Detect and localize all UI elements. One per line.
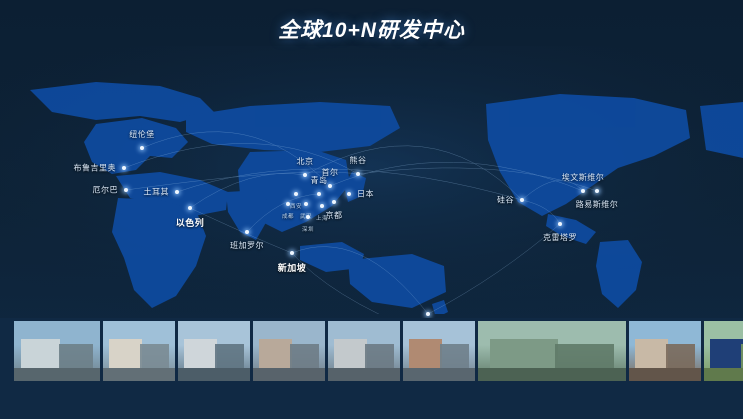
photo-strip: 意大利 · 布鲁吉里奥德国 · 纽伦堡欧洲 · 土耳其韩国 · 首尔日本 · 熊… bbox=[0, 318, 743, 419]
city-label: 首尔 bbox=[322, 167, 339, 178]
city-label: 西安 bbox=[290, 202, 302, 210]
facility-thumbnail[interactable] bbox=[403, 321, 475, 381]
thumbnail-ground-shape bbox=[478, 368, 626, 381]
city-label: 北京 bbox=[297, 156, 314, 167]
thumbnail-building-shape bbox=[635, 339, 668, 368]
city-label: 日本 bbox=[357, 189, 374, 200]
thumbnail-building-shape bbox=[140, 344, 169, 368]
city-label: 路易斯维尔 bbox=[576, 199, 619, 210]
thumbnail-ground-shape bbox=[704, 368, 743, 381]
location-pin-icon bbox=[306, 215, 310, 219]
thumbnail-ground-shape bbox=[629, 368, 701, 381]
city-label: 硅谷 bbox=[497, 195, 514, 206]
location-pin-icon bbox=[581, 189, 585, 193]
location-pin-icon bbox=[320, 204, 324, 208]
facility-thumbnail[interactable] bbox=[103, 321, 175, 381]
location-pin-icon bbox=[294, 192, 298, 196]
thumbnail-building-shape bbox=[334, 339, 367, 368]
thumbnail-building-shape bbox=[490, 339, 558, 368]
location-pin-icon bbox=[140, 146, 144, 150]
facility-thumbnail[interactable] bbox=[253, 321, 325, 381]
location-pin-icon bbox=[347, 192, 351, 196]
city-label: 纽伦堡 bbox=[129, 129, 155, 140]
thumbnail-building-shape bbox=[290, 344, 319, 368]
slide-root: 全球10+N研发中心 bbox=[0, 0, 743, 419]
city-label: 克雷塔罗 bbox=[543, 232, 577, 243]
thumbnail-building-shape bbox=[59, 344, 93, 368]
thumbnail-building-shape bbox=[555, 344, 614, 368]
city-label: 班加罗尔 bbox=[230, 240, 264, 251]
location-pin-icon bbox=[290, 251, 294, 255]
thumbnail-ground-shape bbox=[403, 368, 475, 381]
location-pin-icon bbox=[303, 173, 307, 177]
city-label: 以色列 bbox=[176, 216, 205, 229]
city-label: 新加坡 bbox=[278, 261, 307, 274]
location-pin-icon bbox=[356, 172, 360, 176]
location-pin-icon bbox=[175, 190, 179, 194]
strip-footer bbox=[0, 386, 743, 419]
city-label: 上海 bbox=[316, 214, 328, 222]
thumbnail-building-shape bbox=[259, 339, 292, 368]
city-label: 埃文斯维尔 bbox=[562, 172, 605, 183]
location-pin-icon bbox=[122, 166, 126, 170]
city-label: 京都 bbox=[326, 210, 343, 221]
world-map-svg bbox=[0, 46, 743, 314]
location-pin-icon bbox=[328, 184, 332, 188]
facility-thumbnail[interactable] bbox=[704, 321, 743, 381]
thumbnail-ground-shape bbox=[103, 368, 175, 381]
thumbnail-building-shape bbox=[440, 344, 469, 368]
location-pin-icon bbox=[595, 189, 599, 193]
city-label: 深圳 bbox=[302, 225, 314, 233]
city-label: 厄尔巴 bbox=[93, 185, 119, 196]
facility-thumbnail[interactable] bbox=[629, 321, 701, 381]
location-pin-icon bbox=[520, 198, 524, 202]
facility-thumbnail[interactable] bbox=[178, 321, 250, 381]
facility-thumbnail[interactable] bbox=[328, 321, 400, 381]
thumbnail-ground-shape bbox=[328, 368, 400, 381]
facility-thumbnail[interactable] bbox=[14, 321, 100, 381]
city-label: 土耳其 bbox=[144, 187, 170, 198]
location-pin-icon bbox=[188, 206, 192, 210]
thumbnail-ground-shape bbox=[253, 368, 325, 381]
thumbnail-building-shape bbox=[666, 344, 695, 368]
location-pin-icon bbox=[558, 222, 562, 226]
thumbnail-building-shape bbox=[409, 339, 442, 368]
location-pin-icon bbox=[124, 188, 128, 192]
location-pin-icon bbox=[245, 230, 249, 234]
thumbnail-building-shape bbox=[215, 344, 244, 368]
location-pin-icon bbox=[426, 312, 430, 316]
thumbnail-building-shape bbox=[21, 339, 61, 368]
thumbnail-building-shape bbox=[710, 339, 743, 368]
thumbnail-ground-shape bbox=[14, 368, 100, 381]
location-pin-icon bbox=[286, 202, 290, 206]
thumbnail-row bbox=[14, 321, 743, 381]
location-pin-icon bbox=[304, 202, 308, 206]
page-title: 全球10+N研发中心 bbox=[278, 14, 465, 44]
thumbnail-building-shape bbox=[109, 339, 142, 368]
world-map bbox=[0, 46, 743, 314]
thumbnail-building-shape bbox=[365, 344, 394, 368]
location-pin-icon bbox=[317, 192, 321, 196]
page-title-container: 全球10+N研发中心 bbox=[0, 14, 743, 44]
location-pin-icon bbox=[332, 200, 336, 204]
city-label: 布鲁吉里奥 bbox=[74, 163, 117, 174]
thumbnail-building-shape bbox=[184, 339, 217, 368]
thumbnail-ground-shape bbox=[178, 368, 250, 381]
city-label: 成都 bbox=[282, 212, 294, 220]
facility-thumbnail[interactable] bbox=[478, 321, 626, 381]
city-label: 熊谷 bbox=[350, 155, 367, 166]
